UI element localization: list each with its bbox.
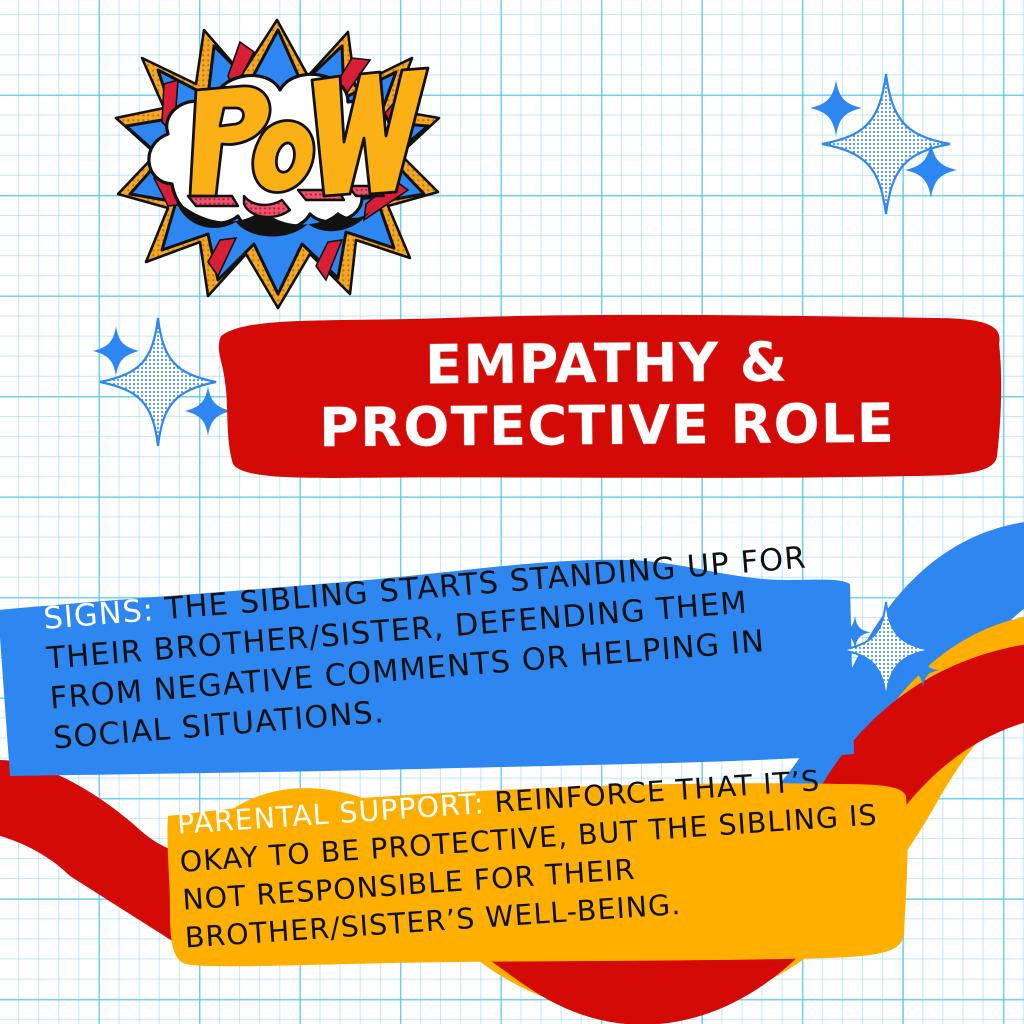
sparkle-small-icon-1 bbox=[93, 326, 139, 376]
sparkle-large-icon bbox=[842, 602, 930, 698]
poster-canvas: EMPATHY & PROTECTIVE ROLE SIGNS: THE SIB… bbox=[0, 0, 1024, 1024]
sparkle-cluster-top-right bbox=[800, 58, 970, 232]
sparkle-small-icon-1 bbox=[810, 80, 862, 136]
title-line-1: EMPATHY & bbox=[425, 334, 789, 393]
pow-burst bbox=[112, 14, 442, 314]
title-line-2: PROTECTIVE ROLE bbox=[319, 396, 896, 457]
signs-label: SIGNS: bbox=[42, 593, 155, 637]
title-banner: EMPATHY & PROTECTIVE ROLE bbox=[207, 306, 1007, 484]
sparkle-small-icon-2 bbox=[907, 654, 939, 687]
signs-block: SIGNS: THE SIBLING STARTS STANDING UP FO… bbox=[0, 548, 858, 784]
sparkle-cluster-right bbox=[826, 594, 956, 710]
support-block: PARENTAL SUPPORT: REINFORCE THAT IT’S OK… bbox=[140, 770, 915, 988]
